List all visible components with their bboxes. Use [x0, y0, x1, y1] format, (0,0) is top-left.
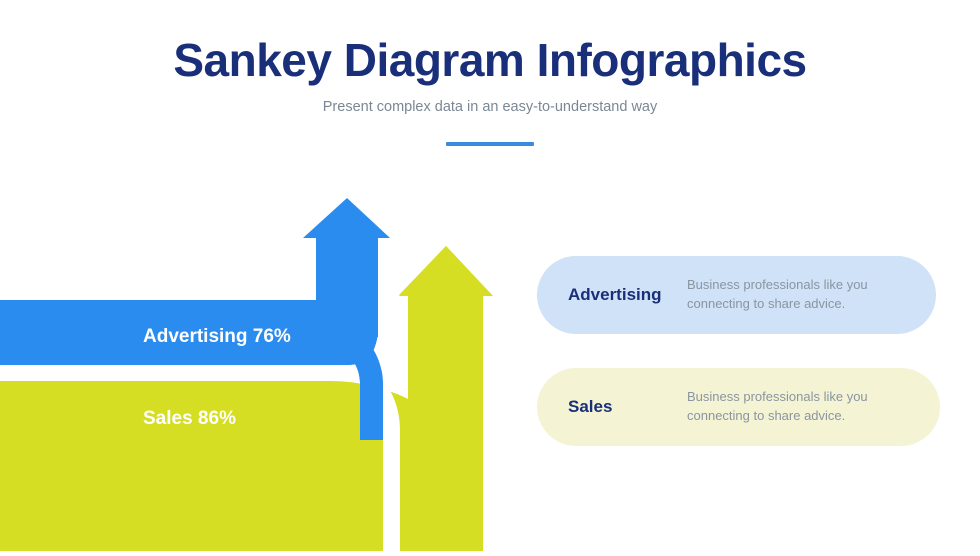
legend-card-advertising-title: Advertising — [537, 285, 687, 305]
legend-card-advertising-body: Business professionals like you connecti… — [687, 276, 877, 314]
advertising-flow-arrowhead — [303, 198, 390, 238]
advertising-flow-label: Advertising 76% — [143, 326, 291, 348]
sales-flow-arrowhead — [399, 246, 493, 296]
sales-flow-label: Sales 86% — [143, 408, 236, 430]
legend-card-sales[interactable]: Sales Business professionals like you co… — [537, 368, 940, 446]
slide-canvas: Sankey Diagram Infographics Present comp… — [0, 0, 980, 551]
legend-card-sales-title: Sales — [537, 397, 687, 417]
sales-flow-shaft — [408, 295, 483, 525]
advertising-flow-corner — [316, 300, 378, 365]
legend-card-advertising[interactable]: Advertising Business professionals like … — [537, 256, 936, 334]
legend-card-sales-body: Business professionals like you connecti… — [687, 388, 877, 426]
